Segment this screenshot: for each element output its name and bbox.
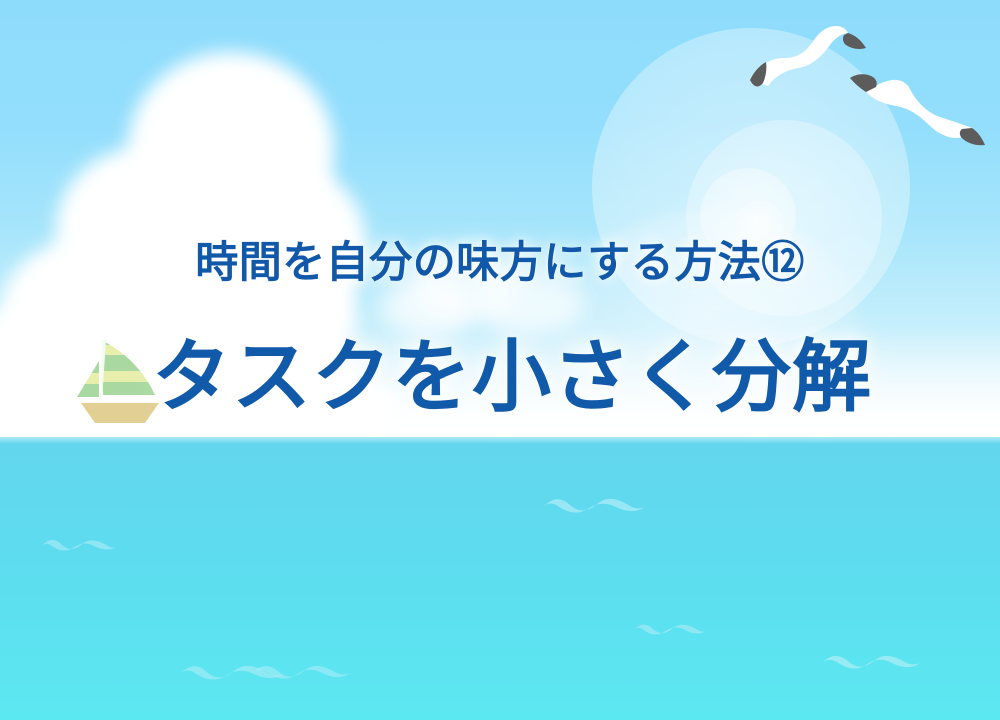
title-group: 時間を自分の味方にする方法⑫ タスクを小さく分解 [0, 0, 1000, 440]
subtitle-text: 時間を自分の味方にする方法⑫ [0, 228, 1000, 290]
page-title: タスクを小さく分解 [0, 312, 1000, 427]
eyecatch-banner: 時間を自分の味方にする方法⑫ タスクを小さく分解 [0, 0, 1000, 720]
sea-background [0, 437, 1000, 720]
